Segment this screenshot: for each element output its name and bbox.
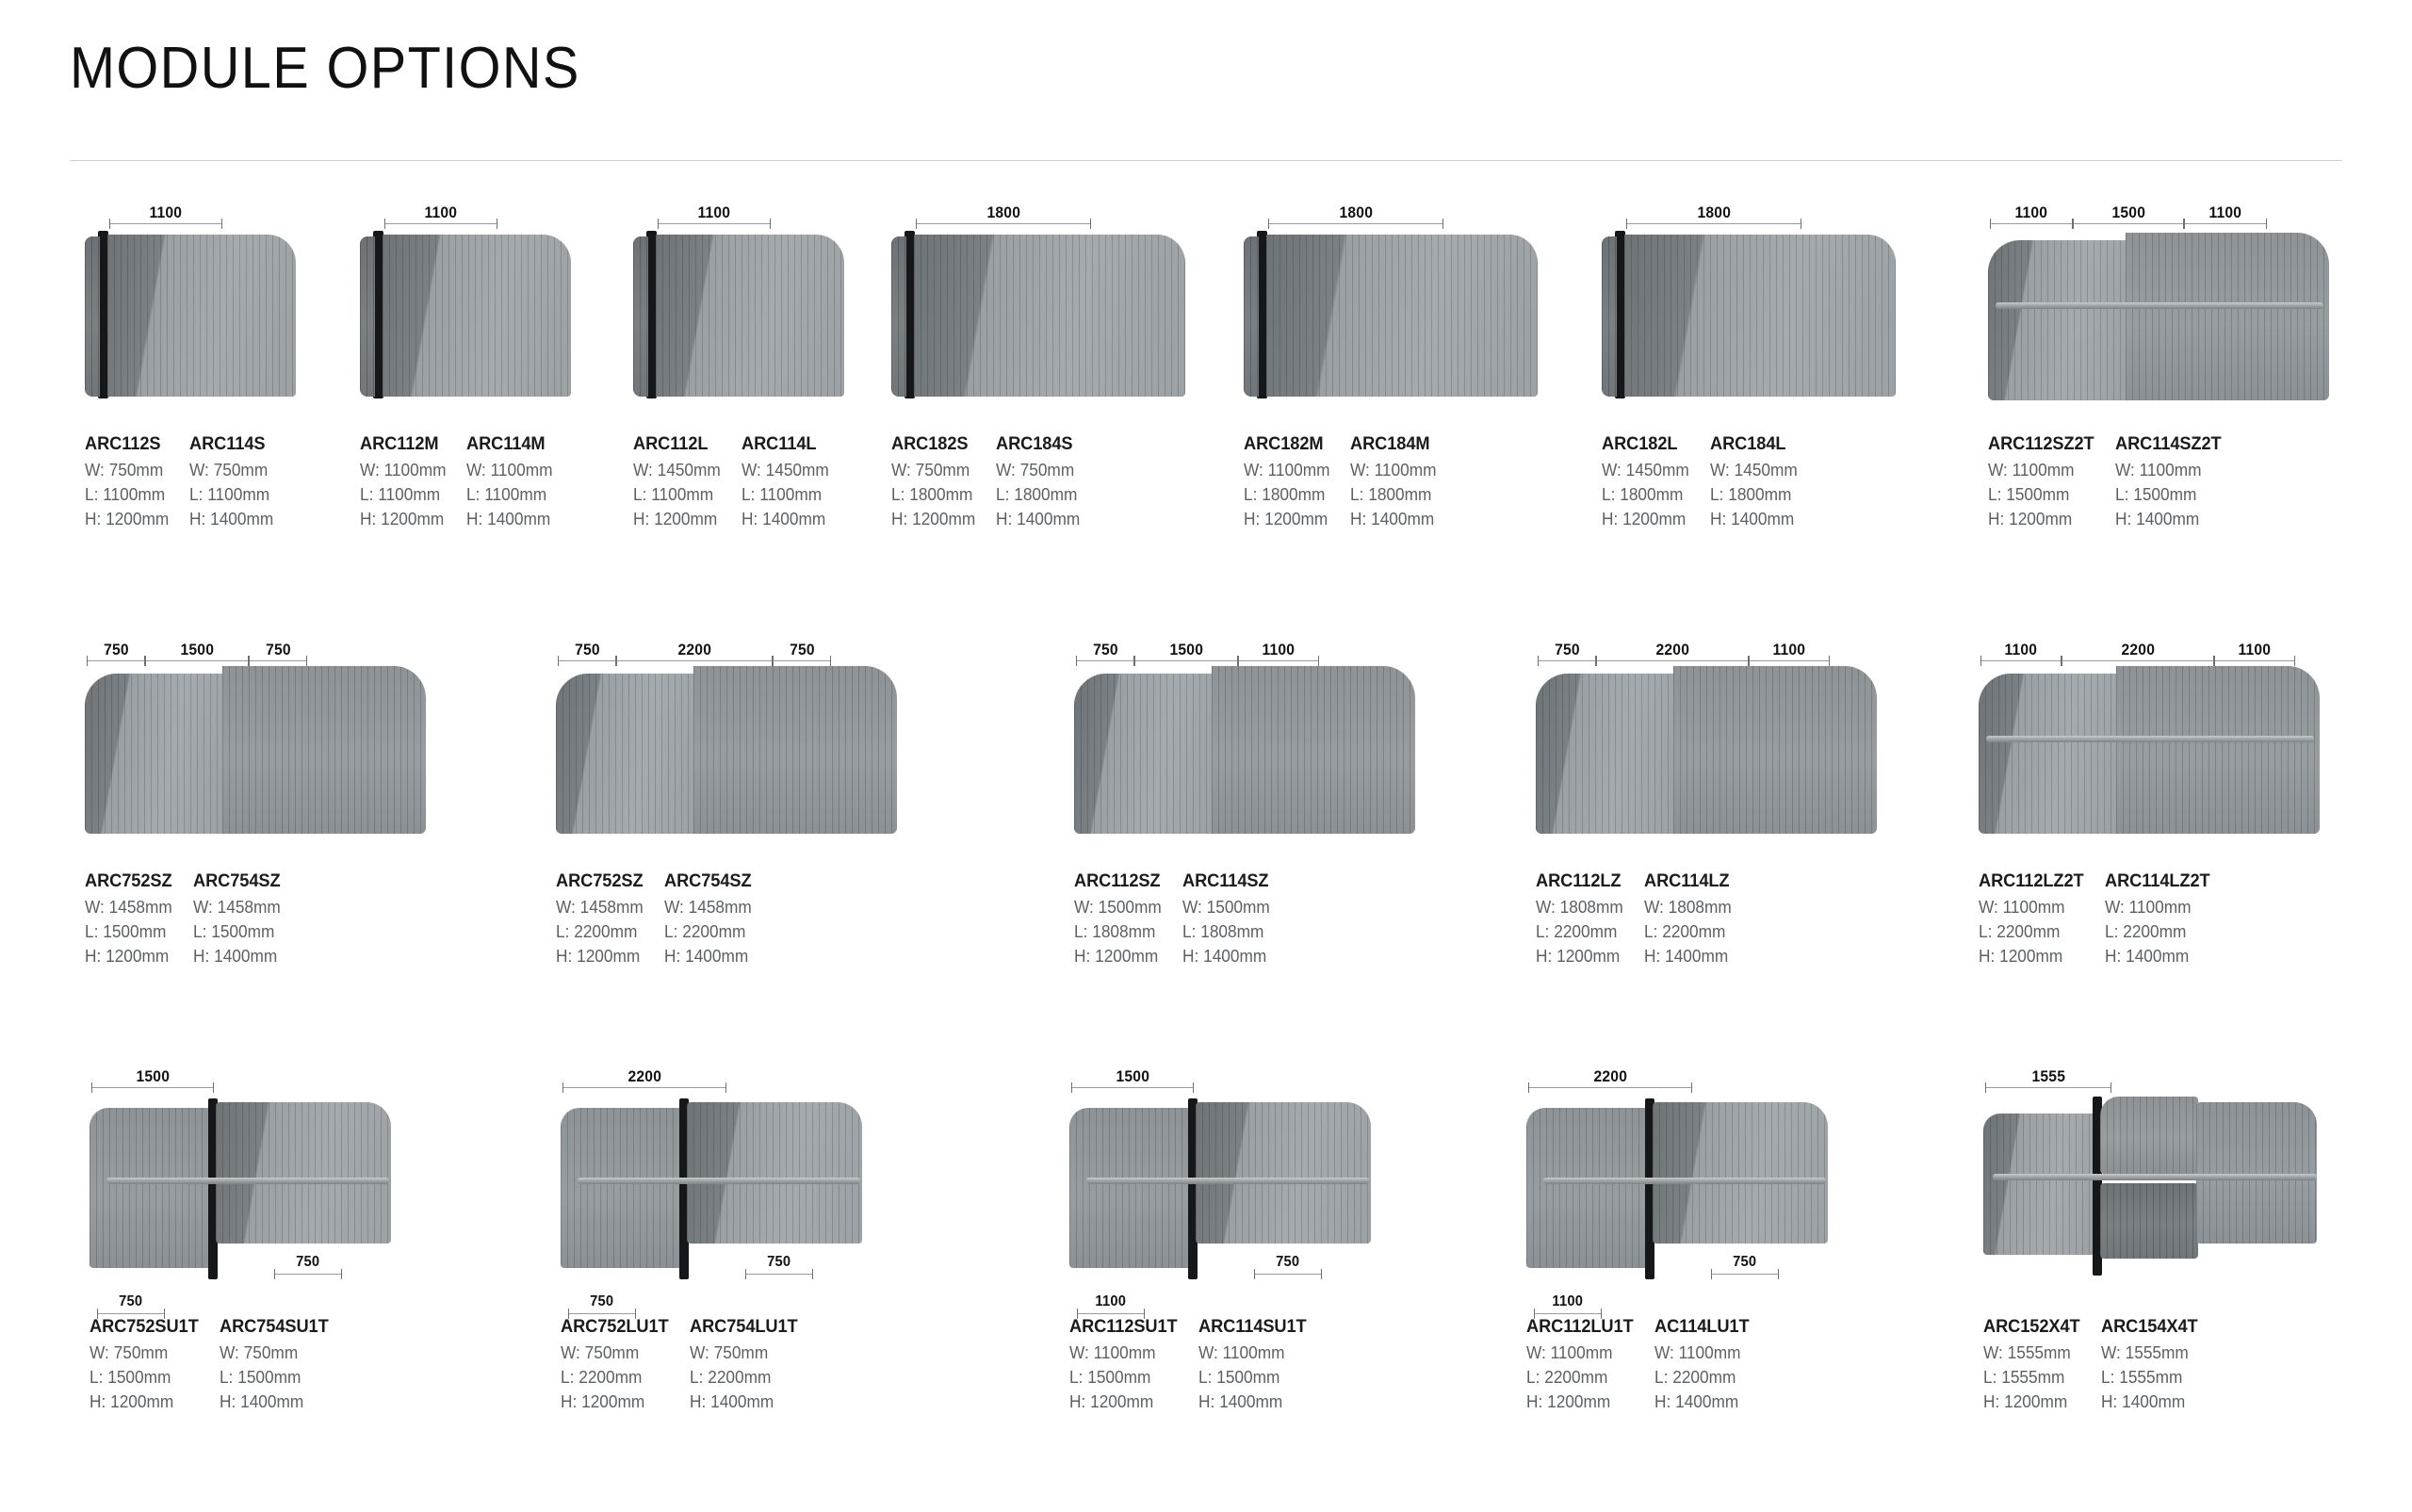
spec-block: ARC112LZ2TW: 1100mmL: 2200mmH: 1200mmARC…: [1979, 869, 2231, 968]
spec-length: L: 1100mm: [85, 482, 169, 507]
dimension-segment: 1100: [1238, 635, 1319, 667]
spec-block: ARC752SZW: 1458mmL: 2200mmH: 1200mmARC75…: [556, 869, 772, 968]
spec-height: H: 1400mm: [2115, 507, 2222, 531]
dimension-callout-secondary: 750: [745, 1248, 813, 1280]
spec-width: W: 1100mm: [2115, 458, 2222, 482]
fabric-panel-left: [1536, 674, 1677, 834]
dimension-tick-right: [2266, 219, 2267, 229]
shelf-rail: [1996, 302, 2323, 309]
dimension-callout: 1100: [109, 198, 222, 230]
dimension-tick-left: [1076, 656, 1077, 666]
dimension-value: 1100: [2009, 204, 2054, 220]
spec-block: ARC752LU1TW: 750mmL: 2200mmH: 1200mmARC7…: [561, 1314, 820, 1414]
spec-product-code: ARC182L: [1602, 431, 1689, 458]
spec-product-code: ARC184S: [996, 431, 1080, 458]
dimension-tick-right: [1193, 1082, 1194, 1093]
spec-width: W: 750mm: [220, 1341, 329, 1365]
dimension-value: 1500: [1110, 1068, 1155, 1084]
module-arc112lu1t-ac114lu1t[interactable]: 2200ARC112LU1TW: 1100mmL: 2200mmH: 1200m…: [1526, 1041, 1903, 1418]
dimension-tick-left: [1596, 656, 1597, 666]
dimension-line: [558, 660, 616, 661]
spec-variant-column: ARC752SU1TW: 750mmL: 1500mmH: 1200mm: [90, 1314, 203, 1414]
module-arc112lz-arc114lz[interactable]: 75022001100ARC112LZW: 1808mmL: 2200mmH: …: [1536, 612, 1913, 989]
dimension-tick-right: [2294, 656, 2295, 666]
spec-product-code: ARC154X4T: [2101, 1314, 2198, 1341]
fabric-panel-left: [1074, 674, 1215, 834]
dimension-segment: 750: [97, 1288, 165, 1320]
panel-return: [85, 236, 100, 397]
spec-length: L: 2200mm: [1644, 919, 1732, 944]
spec-width: W: 1100mm: [1350, 458, 1437, 482]
dimension-tick-left: [1980, 656, 1981, 666]
dimension-tick-left: [1990, 219, 1991, 229]
spec-variant-column: ARC112LZ2TW: 1100mmL: 2200mmH: 1200mm: [1979, 869, 2088, 968]
spec-height: H: 1200mm: [90, 1390, 199, 1414]
dimension-line: [1985, 1087, 2111, 1088]
spec-product-code: ARC182M: [1244, 431, 1330, 458]
dimension-tick-left: [109, 219, 110, 229]
spec-product-code: ARC114SU1T: [1198, 1314, 1307, 1341]
fabric-panel-left: [1979, 674, 2120, 834]
spec-width: W: 1458mm: [664, 895, 752, 919]
spec-height: H: 1200mm: [1074, 944, 1162, 968]
dimension-value: 750: [1086, 642, 1124, 658]
dimension-line: [1990, 223, 2073, 224]
dimension-segment: 1100: [1749, 635, 1830, 667]
dimension-segment: 2200: [2062, 635, 2214, 667]
spec-length: L: 2200mm: [1526, 1365, 1634, 1390]
spec-length: L: 1500mm: [220, 1365, 329, 1390]
dimension-tick-right: [1090, 219, 1091, 229]
spec-height: H: 1400mm: [1182, 944, 1270, 968]
spec-length: L: 1500mm: [193, 919, 281, 944]
spec-variant-column: ARC754SZW: 1458mmL: 2200mmH: 1400mm: [664, 869, 756, 968]
spec-width: W: 1458mm: [85, 895, 172, 919]
dimension-segment: 750: [745, 1248, 813, 1280]
spec-variant-column: ARC182SW: 750mmL: 1800mmH: 1200mm: [891, 431, 979, 531]
spec-block: ARC752SZW: 1458mmL: 1500mmH: 1200mmARC75…: [85, 869, 301, 968]
spec-length: L: 1808mm: [1074, 919, 1162, 944]
dimension-line: [1076, 660, 1134, 661]
fabric-panel-right: [222, 666, 426, 834]
dimension-line: [1538, 660, 1596, 661]
module-arc752sz-arc754sz-2200[interactable]: 7502200750ARC752SZW: 1458mmL: 2200mmH: 1…: [556, 612, 933, 989]
dimension-segment: 1100: [384, 198, 497, 230]
panel-return: [1244, 236, 1259, 397]
spec-product-code: ARC114L: [742, 431, 829, 458]
dimension-callout: 75022001100: [1538, 635, 1830, 667]
spec-height: H: 1200mm: [85, 507, 169, 531]
dimension-value: 1500: [1164, 642, 1209, 658]
fabric-panel-right: [1673, 666, 1877, 834]
spec-width: W: 750mm: [891, 458, 975, 482]
panel-return: [891, 236, 906, 397]
dimension-tick-left: [1749, 656, 1750, 666]
spec-product-code: ARC114SZ: [1182, 869, 1270, 895]
product-row-1: 1100ARC112SW: 750mmL: 1100mmH: 1200mmARC…: [0, 179, 2412, 556]
spec-variant-column: ARC182MW: 1100mmL: 1800mmH: 1200mm: [1244, 431, 1333, 531]
spec-length: L: 1500mm: [90, 1365, 199, 1390]
spec-height: H: 1400mm: [664, 944, 752, 968]
dimension-tick-right: [1601, 1309, 1602, 1319]
spec-variant-column: ARC112MW: 1100mmL: 1100mmH: 1200mm: [360, 431, 449, 531]
fabric-panel: [914, 235, 1185, 397]
spec-block: ARC112LU1TW: 1100mmL: 2200mmH: 1200mmAC1…: [1526, 1314, 1770, 1414]
dimension-line: [1254, 1274, 1322, 1275]
module-arc182s-arc184s[interactable]: 1800ARC182SW: 750mmL: 1800mmH: 1200mmARC…: [891, 179, 1268, 556]
dimension-tick-left: [1071, 1082, 1072, 1093]
dimension-tick-left: [2214, 656, 2215, 666]
spec-block: ARC182MW: 1100mmL: 1800mmH: 1200mmARC184…: [1244, 431, 1458, 531]
dimension-tick-left: [384, 219, 385, 229]
fabric-panel-quadrant-a: [1983, 1114, 2096, 1255]
spec-length: L: 1100mm: [466, 482, 553, 507]
dimension-tick-right: [1801, 219, 1801, 229]
fabric-panel-left: [85, 674, 226, 834]
dimension-tick-right: [1318, 656, 1319, 666]
dimension-line: [916, 223, 1091, 224]
title-divider: [70, 160, 2342, 161]
spec-length: L: 2200mm: [1654, 1365, 1750, 1390]
spec-length: L: 2200mm: [561, 1365, 669, 1390]
dimension-tick-left: [616, 656, 617, 666]
panel-return: [360, 236, 375, 397]
module-arc112su1t-arc114su1t[interactable]: 1500ARC112SU1TW: 1100mmL: 1500mmH: 1200m…: [1069, 1041, 1446, 1418]
dimension-value: 750: [584, 1294, 620, 1309]
shelf-rail: [106, 1178, 389, 1184]
dimension-callout: 7502200750: [558, 635, 831, 667]
spec-length: L: 2200mm: [556, 919, 644, 944]
spec-block: ARC112SW: 750mmL: 1100mmH: 1200mmARC114S…: [85, 431, 294, 531]
spec-height: H: 1200mm: [85, 944, 172, 968]
spec-product-code: ARC114SZ2T: [2115, 431, 2222, 458]
dimension-callout: 75015001100: [1076, 635, 1319, 667]
fabric-panel-right: [693, 666, 897, 834]
fabric-panel-wing: [216, 1102, 391, 1244]
dimension-segment: 750: [1254, 1248, 1322, 1280]
spec-length: L: 2200mm: [1536, 919, 1623, 944]
spec-variant-column: ARC114LZW: 1808mmL: 2200mmH: 1400mm: [1644, 869, 1736, 968]
spec-variant-column: ARC184SW: 750mmL: 1800mmH: 1400mm: [996, 431, 1084, 531]
spec-width: W: 1458mm: [193, 895, 281, 919]
dimension-line: [249, 660, 307, 661]
dimension-line: [2062, 660, 2214, 661]
fabric-panel: [1624, 235, 1896, 397]
fabric-panel: [656, 235, 844, 397]
spec-width: W: 1100mm: [1979, 895, 2084, 919]
dimension-value: 750: [761, 1255, 797, 1270]
spec-length: L: 1500mm: [85, 919, 172, 944]
dimension-tick-left: [1528, 1082, 1529, 1093]
shelf-rail: [1993, 1174, 2317, 1180]
dimension-line: [658, 223, 771, 224]
dimension-tick-right: [770, 219, 771, 229]
dimension-tick-right: [1321, 1269, 1322, 1279]
dimension-callout: 7501500750: [87, 635, 307, 667]
spec-length: L: 2200mm: [690, 1365, 798, 1390]
spec-height: H: 1400mm: [2105, 944, 2210, 968]
dimension-segment: 750: [249, 635, 307, 667]
module-arc182m-arc184m[interactable]: 1800ARC182MW: 1100mmL: 1800mmH: 1200mmAR…: [1244, 179, 1621, 556]
dimension-tick-right: [1778, 1269, 1779, 1279]
dimension-line: [562, 1087, 726, 1088]
spec-width: W: 1100mm: [1069, 1341, 1178, 1365]
panel-return: [1602, 236, 1617, 397]
dimension-value: 750: [259, 642, 297, 658]
spec-variant-column: ARC754SZW: 1458mmL: 1500mmH: 1400mm: [193, 869, 285, 968]
dimension-value: 2200: [622, 1068, 667, 1084]
spec-width: W: 1500mm: [1182, 895, 1270, 919]
dimension-value: 1100: [692, 204, 737, 220]
spec-variant-column: ARC182LW: 1450mmL: 1800mmH: 1200mm: [1602, 431, 1693, 531]
spec-variant-column: ARC112SZ2TW: 1100mmL: 1500mmH: 1200mm: [1988, 431, 2098, 531]
dimension-tick-right: [213, 1082, 214, 1093]
spec-height: H: 1200mm: [633, 507, 721, 531]
dimension-tick-right: [1442, 219, 1443, 229]
dimension-line: [91, 1087, 214, 1088]
dimension-callout: 1500: [91, 1062, 214, 1094]
dimension-line: [2184, 223, 2267, 224]
dimension-line: [97, 1313, 165, 1314]
dimension-tick-right: [1691, 1082, 1692, 1093]
spec-height: H: 1200mm: [1983, 1390, 2080, 1414]
dimension-callout-secondary: 750: [97, 1288, 165, 1320]
spec-height: H: 1400mm: [1654, 1390, 1750, 1414]
module-arc152x4t-arc154x4t[interactable]: 1555ARC152X4TW: 1555mmL: 1555mmH: 1200mm…: [1983, 1041, 2360, 1418]
dimension-segment: 1100: [2184, 198, 2267, 230]
dimension-segment: 1100: [1077, 1288, 1145, 1320]
spec-height: H: 1400mm: [1710, 507, 1798, 531]
dimension-segment: 2200: [1528, 1062, 1692, 1094]
dimension-segment: 750: [1538, 635, 1596, 667]
spec-width: W: 1500mm: [1074, 895, 1162, 919]
dimension-segment: 1800: [1626, 198, 1801, 230]
dimension-value: 2200: [2115, 642, 2160, 658]
dimension-tick-left: [1534, 1309, 1535, 1319]
spec-height: H: 1200mm: [1069, 1390, 1178, 1414]
dimension-segment: 1500: [2073, 198, 2184, 230]
spec-length: L: 1800mm: [1244, 482, 1330, 507]
dimension-value: 1100: [1256, 642, 1301, 658]
module-arc752lu1t-arc754lu1t[interactable]: 2200ARC752LU1TW: 750mmL: 2200mmH: 1200mm…: [561, 1041, 937, 1418]
dimension-callout: 1500: [1071, 1062, 1194, 1094]
spec-width: W: 1100mm: [1244, 458, 1330, 482]
spec-height: H: 1200mm: [556, 944, 644, 968]
spec-width: W: 750mm: [690, 1341, 798, 1365]
spec-width: W: 1450mm: [1710, 458, 1798, 482]
dimension-tick-right: [830, 656, 831, 666]
product-row-2: 7501500750ARC752SZW: 1458mmL: 1500mmH: 1…: [0, 612, 2412, 989]
spec-variant-column: ARC114SU1TW: 1100mmL: 1500mmH: 1400mm: [1198, 1314, 1311, 1414]
dimension-callout: 2200: [1528, 1062, 1692, 1094]
dimension-callout-secondary: 750: [274, 1248, 342, 1280]
spec-variant-column: ARC754SU1TW: 750mmL: 1500mmH: 1400mm: [220, 1314, 333, 1414]
dimension-segment: 1500: [91, 1062, 214, 1094]
dimension-tick-left: [1711, 1269, 1712, 1279]
spec-length: L: 1500mm: [1198, 1365, 1307, 1390]
dimension-value: 2200: [1588, 1068, 1633, 1084]
dimension-line: [1528, 1087, 1692, 1088]
dimension-line: [2214, 660, 2295, 661]
spec-height: H: 1200mm: [1526, 1390, 1634, 1414]
module-arc112sz-arc114sz[interactable]: 75015001100ARC112SZW: 1500mmL: 1808mmH: …: [1074, 612, 1451, 989]
spec-product-code: AC114LU1T: [1654, 1314, 1750, 1341]
fabric-panel-wing: [1196, 1102, 1371, 1244]
dimension-tick-right: [635, 1309, 636, 1319]
module-arc752su1t-arc754su1t[interactable]: 1500ARC752SU1TW: 750mmL: 1500mmH: 1200mm…: [90, 1041, 466, 1418]
spec-product-code: ARC754LU1T: [690, 1314, 798, 1341]
spec-length: L: 1800mm: [996, 482, 1080, 507]
dimension-line: [1711, 1274, 1779, 1275]
spec-length: L: 1800mm: [1350, 482, 1437, 507]
dimension-tick-left: [1985, 1082, 1986, 1093]
module-options-page: MODULE OPTIONS 1100ARC112SW: 750mmL: 110…: [0, 0, 2412, 1512]
spec-length: L: 1500mm: [1988, 482, 2094, 507]
dimension-segment: 1100: [2214, 635, 2295, 667]
dimension-value: 750: [97, 642, 135, 658]
spec-product-code: ARC754SU1T: [220, 1314, 329, 1341]
dimension-segment: 1500: [145, 635, 249, 667]
dimension-value: 1100: [1546, 1294, 1589, 1309]
module-arc112lz2t-arc114lz2t[interactable]: 110022001100ARC112LZ2TW: 1100mmL: 2200mm…: [1979, 612, 2355, 989]
dimension-segment: 1100: [109, 198, 222, 230]
spec-width: W: 1100mm: [1988, 458, 2094, 482]
spec-product-code: ARC112L: [633, 431, 721, 458]
dimension-tick-left: [1626, 219, 1627, 229]
spec-height: H: 1200mm: [1979, 944, 2084, 968]
dimension-segment: 750: [568, 1288, 636, 1320]
spec-length: L: 1100mm: [742, 482, 829, 507]
dimension-segment: 1100: [1534, 1288, 1602, 1320]
dimension-value: 1800: [1333, 204, 1378, 220]
spec-height: H: 1200mm: [1988, 507, 2094, 531]
spec-block: ARC112LW: 1450mmL: 1100mmH: 1200mmARC114…: [633, 431, 849, 531]
dimension-line: [2073, 223, 2184, 224]
dimension-tick-left: [87, 656, 88, 666]
spec-length: L: 1808mm: [1182, 919, 1270, 944]
dimension-tick-left: [1268, 219, 1269, 229]
spec-width: W: 1555mm: [1983, 1341, 2080, 1365]
module-arc752sz-arc754sz-1500[interactable]: 7501500750ARC752SZW: 1458mmL: 1500mmH: 1…: [85, 612, 462, 989]
dimension-tick-right: [341, 1269, 342, 1279]
spec-width: W: 1100mm: [2105, 895, 2210, 919]
spec-product-code: ARC114M: [466, 431, 553, 458]
spec-height: H: 1400mm: [2101, 1390, 2198, 1414]
dimension-value: 750: [568, 642, 606, 658]
dimension-value: 1100: [1998, 642, 2044, 658]
dimension-line: [1980, 660, 2062, 661]
dimension-value: 750: [1270, 1255, 1306, 1270]
spec-variant-column: ARC152X4TW: 1555mmL: 1555mmH: 1200mm: [1983, 1314, 2084, 1414]
dimension-tick-left: [1134, 656, 1135, 666]
dimension-value: 750: [1727, 1255, 1763, 1270]
dimension-value: 1800: [1691, 204, 1736, 220]
spec-block: ARC112SZW: 1500mmL: 1808mmH: 1200mmARC11…: [1074, 869, 1290, 968]
spec-variant-column: ARC114SW: 750mmL: 1100mmH: 1400mm: [189, 431, 277, 531]
spec-block: ARC112MW: 1100mmL: 1100mmH: 1200mmARC114…: [360, 431, 574, 531]
dimension-segment: 750: [87, 635, 145, 667]
dimension-tick-left: [558, 656, 559, 666]
fabric-panel: [383, 235, 571, 397]
spec-height: H: 1400mm: [742, 507, 829, 531]
dimension-value: 750: [783, 642, 821, 658]
fabric-panel-right: [1212, 666, 1415, 834]
dimension-value: 1100: [143, 204, 188, 220]
dimension-tick-left: [1254, 1269, 1255, 1279]
dimension-segment: 2200: [1596, 635, 1749, 667]
spec-product-code: ARC112SZ: [1074, 869, 1162, 895]
shelf-rail: [1986, 736, 2314, 742]
spec-width: W: 750mm: [561, 1341, 669, 1365]
dimension-tick-left: [2073, 219, 2074, 229]
spec-width: W: 1808mm: [1536, 895, 1623, 919]
spec-product-code: ARC114LZ2T: [2105, 869, 2210, 895]
spec-length: L: 1555mm: [2101, 1365, 2198, 1390]
dimension-tick-right: [725, 1082, 726, 1093]
dimension-callout-secondary: 750: [1711, 1248, 1779, 1280]
dimension-line: [1749, 660, 1830, 661]
shelf-rail: [1543, 1178, 1826, 1184]
spec-length: L: 2200mm: [664, 919, 752, 944]
spec-length: L: 1100mm: [633, 482, 721, 507]
spec-variant-column: ARC112LW: 1450mmL: 1100mmH: 1200mm: [633, 431, 725, 531]
module-arc112sz2t-arc114sz2t[interactable]: 110015001100ARC112SZ2TW: 1100mmL: 1500mm…: [1988, 179, 2365, 556]
dimension-tick-right: [812, 1269, 813, 1279]
dimension-value: 1500: [130, 1068, 175, 1084]
dimension-callout: 2200: [562, 1062, 726, 1094]
dimension-tick-left: [1238, 656, 1239, 666]
dimension-value: 1100: [1767, 642, 1812, 658]
dimension-callout: 1800: [1626, 198, 1801, 230]
spec-product-code: ARC112SZ2T: [1988, 431, 2094, 458]
spec-width: W: 1100mm: [466, 458, 553, 482]
dimension-line: [745, 1274, 813, 1275]
spec-variant-column: ARC112LZW: 1808mmL: 2200mmH: 1200mm: [1536, 869, 1627, 968]
spec-variant-column: ARC752SZW: 1458mmL: 1500mmH: 1200mm: [85, 869, 176, 968]
spec-width: W: 1100mm: [1526, 1341, 1634, 1365]
dimension-line: [1238, 660, 1319, 661]
product-row-3: 1500ARC752SU1TW: 750mmL: 1500mmH: 1200mm…: [0, 1041, 2412, 1437]
dimension-line: [109, 223, 222, 224]
dimension-tick-left: [773, 656, 774, 666]
spec-height: H: 1400mm: [996, 507, 1080, 531]
fabric-panel: [1266, 235, 1538, 397]
shelf-rail: [578, 1178, 860, 1184]
spec-variant-column: ARC754LU1TW: 750mmL: 2200mmH: 1400mm: [690, 1314, 802, 1414]
spec-block: ARC182SW: 750mmL: 1800mmH: 1200mmARC184S…: [891, 431, 1100, 531]
spec-height: H: 1400mm: [1644, 944, 1732, 968]
dimension-segment: 1100: [1990, 198, 2073, 230]
spec-variant-column: ARC184LW: 1450mmL: 1800mmH: 1400mm: [1710, 431, 1801, 531]
module-arc182l-arc184l[interactable]: 1800ARC182LW: 1450mmL: 1800mmH: 1200mmAR…: [1602, 179, 1979, 556]
dimension-line: [616, 660, 773, 661]
dimension-line: [1596, 660, 1749, 661]
spec-width: W: 1450mm: [1602, 458, 1689, 482]
spec-product-code: ARC112S: [85, 431, 169, 458]
spec-height: H: 1200mm: [1536, 944, 1623, 968]
fabric-panel-right: [2126, 233, 2329, 400]
spec-width: W: 1450mm: [742, 458, 829, 482]
spec-width: W: 1100mm: [1654, 1341, 1750, 1365]
dimension-callout: 110022001100: [1980, 635, 2295, 667]
spec-length: L: 2200mm: [2105, 919, 2210, 944]
spec-product-code: ARC114S: [189, 431, 273, 458]
spec-product-code: ARC112LZ2T: [1979, 869, 2084, 895]
dimension-segment: 1555: [1985, 1062, 2111, 1094]
dimension-tick-right: [1144, 1309, 1145, 1319]
dimension-tick-right: [497, 219, 497, 229]
dimension-tick-left: [658, 219, 659, 229]
